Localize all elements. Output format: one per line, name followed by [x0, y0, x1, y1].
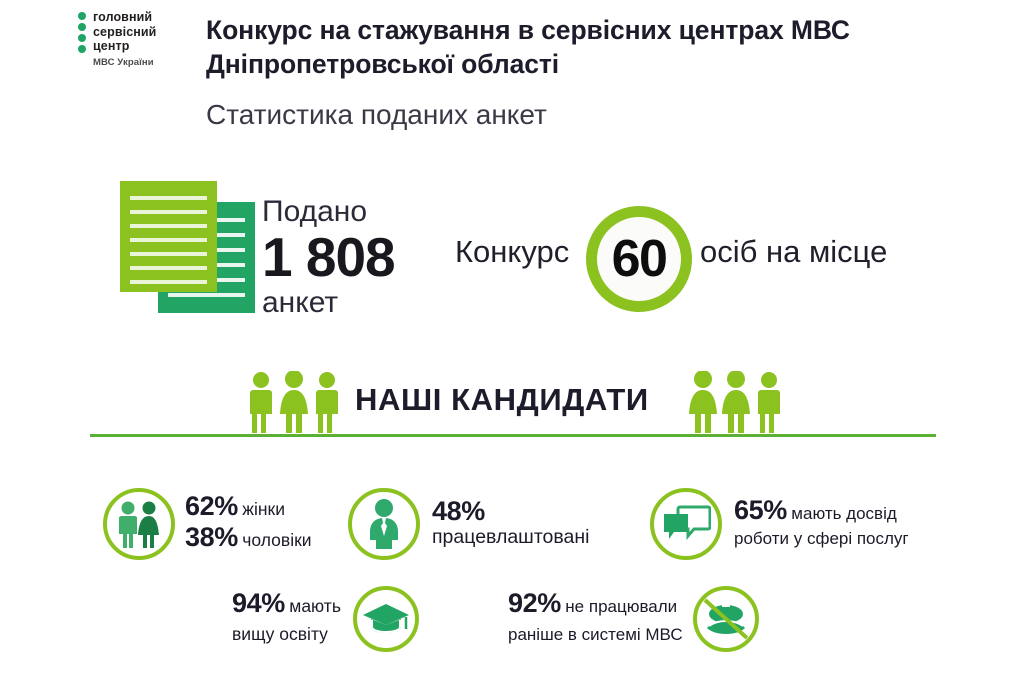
page-title: Конкурс на стажування в сервісних центра… [206, 13, 906, 81]
infographic-page: головний сервісний центр МВС України Кон… [0, 0, 1024, 684]
submitted-value: 1 808 [262, 229, 452, 285]
stat-employed-value: 48% [432, 498, 589, 524]
documents-icon [120, 181, 255, 313]
people-group-icon [244, 371, 344, 438]
stat-service-experience-label-1: мають досвід [791, 504, 897, 523]
stat-no-mvs-experience-value: 92% [508, 588, 561, 618]
businessperson-icon [348, 488, 420, 560]
stat-gender-male-value: 38% [185, 522, 238, 552]
competition-suffix: осіб на місце [700, 234, 887, 270]
stat-service-experience-label-2: роботи у сфері послуг [734, 527, 909, 551]
people-group-icon [686, 371, 786, 438]
stat-service-experience-value: 65% [734, 495, 787, 525]
competition-prefix: Конкурс [455, 234, 569, 270]
stat-gender-female-value: 62% [185, 491, 238, 521]
no-police-cap-icon [693, 586, 759, 652]
candidates-band-title: НАШІ КАНДИДАТИ [355, 382, 649, 418]
stat-gender-male-label: чоловіки [242, 530, 311, 550]
speech-bubbles-icon [650, 488, 722, 560]
man-woman-icon [103, 488, 175, 560]
stat-employed: 48% працевлаштовані [348, 488, 589, 560]
submitted-applications-stat: Подано 1 808 анкет [262, 195, 452, 321]
stat-higher-education-value: 94% [232, 588, 285, 618]
stat-higher-education: 94% мають вищу освіту [232, 586, 419, 652]
stat-gender: 62% жінки 38% чоловіки [103, 488, 312, 560]
stat-no-mvs-experience: 92% не працювали раніше в системі МВС [508, 586, 759, 652]
stat-gender-female-label: жінки [242, 499, 285, 519]
stat-service-experience: 65% мають досвід роботи у сфері послуг [650, 488, 909, 560]
submitted-unit: анкет [262, 285, 452, 321]
stat-higher-education-label-1: мають [289, 596, 341, 616]
stat-no-mvs-experience-label-1: не працювали [565, 597, 677, 616]
submitted-label: Подано [262, 195, 452, 229]
stat-higher-education-label-2: вищу освіту [232, 621, 341, 648]
logo-line-2: сервісний [93, 25, 156, 40]
competition-badge: 60 [586, 206, 692, 312]
stat-employed-label: працевлаштовані [432, 524, 589, 550]
stat-no-mvs-experience-label-2: раніше в системі МВС [508, 621, 683, 648]
logo-dots-icon [78, 10, 86, 53]
logo-line-1: головний [93, 10, 156, 25]
logo-line-3: центр [93, 39, 156, 54]
competition-value: 60 [612, 233, 667, 285]
band-divider [90, 434, 936, 437]
graduation-cap-icon [353, 586, 419, 652]
logo-subtitle: МВС України [93, 56, 156, 71]
brand-logo: головний сервісний центр МВС України [78, 10, 198, 70]
page-subtitle: Статистика поданих анкет [206, 98, 906, 132]
